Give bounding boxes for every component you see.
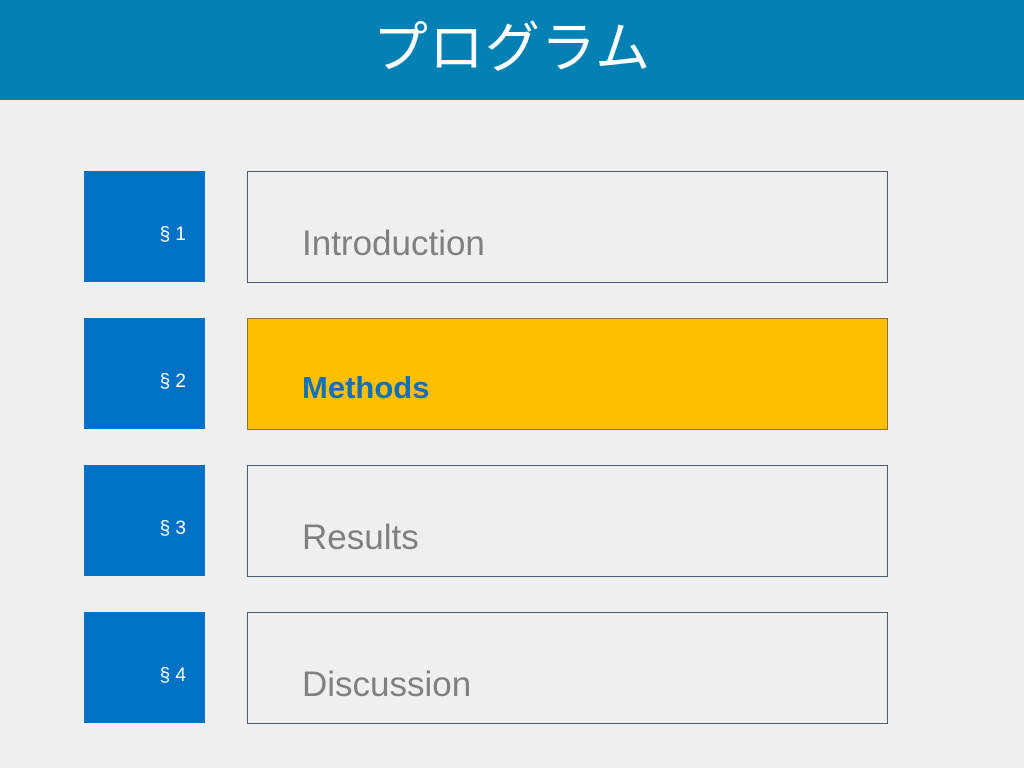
slide-header: プログラム <box>0 0 1024 100</box>
agenda-item-box[interactable]: Introduction <box>247 171 888 283</box>
section-number-badge: § 2 <box>84 318 205 429</box>
agenda-item-label: Introduction <box>302 226 485 261</box>
agenda-item-box-active[interactable]: Methods <box>247 318 888 430</box>
section-number-label: § 2 <box>160 372 186 391</box>
section-number-label: § 3 <box>160 519 186 538</box>
section-number-badge: § 1 <box>84 171 205 282</box>
section-number-badge: § 3 <box>84 465 205 576</box>
agenda-item-discussion[interactable]: § 4 Discussion <box>0 612 1024 724</box>
agenda-item-introduction[interactable]: § 1 Introduction <box>0 171 1024 283</box>
agenda-list: § 1 Introduction § 2 Methods § 3 Results… <box>0 100 1024 768</box>
agenda-item-results[interactable]: § 3 Results <box>0 465 1024 577</box>
section-number-badge: § 4 <box>84 612 205 723</box>
section-number-label: § 1 <box>160 225 186 244</box>
agenda-item-label: Methods <box>302 372 429 403</box>
agenda-item-label: Discussion <box>302 667 471 702</box>
agenda-item-box[interactable]: Discussion <box>247 612 888 724</box>
agenda-item-methods[interactable]: § 2 Methods <box>0 318 1024 430</box>
agenda-item-label: Results <box>302 520 419 555</box>
section-number-label: § 4 <box>160 666 186 685</box>
agenda-item-box[interactable]: Results <box>247 465 888 577</box>
page-title: プログラム <box>373 21 651 76</box>
